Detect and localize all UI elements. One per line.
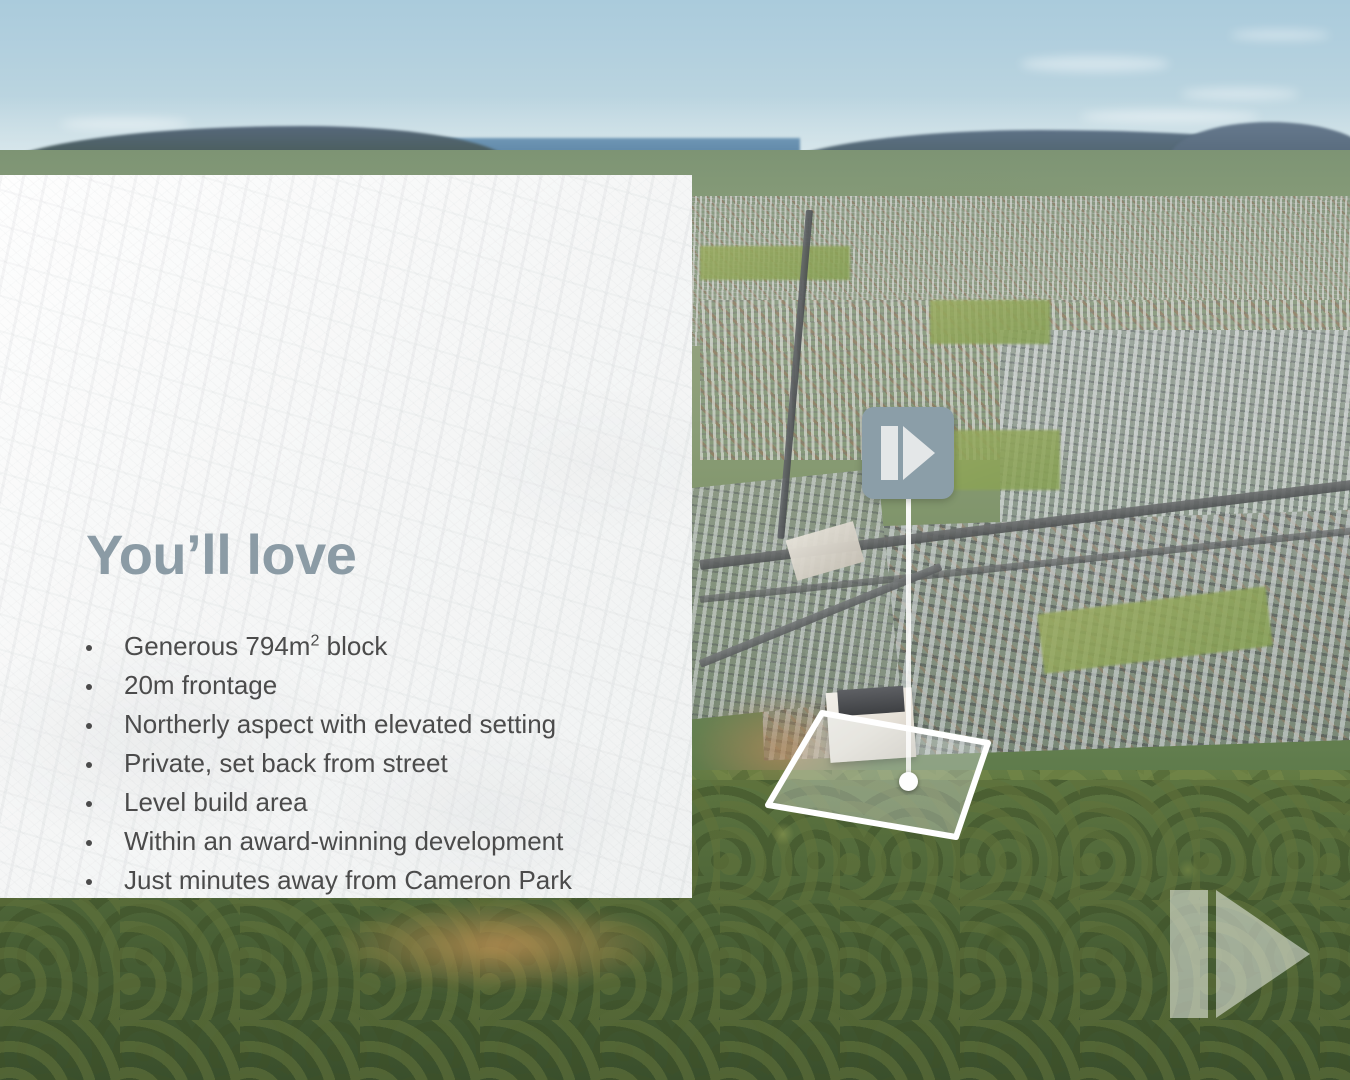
list-item: Private, set back from street (84, 744, 664, 783)
list-item-label: Northerly aspect with elevated setting (124, 709, 556, 739)
paddock (700, 246, 850, 280)
list-item-label: Private, set back from street (124, 748, 448, 778)
map-pin-anchor-dot (899, 772, 918, 791)
brand-watermark (1170, 890, 1318, 1018)
list-item-label: 20m frontage (124, 670, 277, 700)
list-item-label: Generous 794m (124, 631, 310, 661)
cloud (1180, 88, 1300, 100)
cloud (60, 118, 190, 130)
list-item: Just minutes away from Cameron Park Plaz… (84, 861, 664, 898)
cloud (1230, 30, 1330, 40)
map-pin-badge[interactable] (862, 407, 954, 499)
cleared-earth-patch (330, 900, 670, 990)
cloud (1020, 56, 1170, 72)
list-item-tail: block (319, 631, 387, 661)
lot-boundary-highlight (760, 685, 1020, 850)
list-item: 20m frontage (84, 666, 664, 705)
map-pin-stem (906, 497, 911, 782)
cloud (1080, 110, 1260, 123)
list-item: Northerly aspect with elevated setting (84, 705, 664, 744)
list-item: Within an award-winning development (84, 822, 664, 861)
k-logo-icon (1170, 890, 1318, 1018)
list-item-label: Level build area (124, 787, 308, 817)
list-item-label: Just minutes away from Cameron Park (124, 865, 572, 895)
list-item: Level build area (84, 783, 664, 822)
feature-list: Generous 794m2 block 20m frontage Northe… (84, 627, 664, 898)
list-item: Generous 794m2 block (84, 627, 664, 666)
page-title: You’ll love (86, 527, 356, 583)
content-panel: You’ll love Generous 794m2 block 20m fro… (0, 175, 692, 898)
list-item-label: Within an award-winning development (124, 826, 563, 856)
property-feature-slide: You’ll love Generous 794m2 block 20m fro… (0, 0, 1350, 1080)
paddock (930, 300, 1050, 344)
k-logo-icon (879, 424, 937, 482)
